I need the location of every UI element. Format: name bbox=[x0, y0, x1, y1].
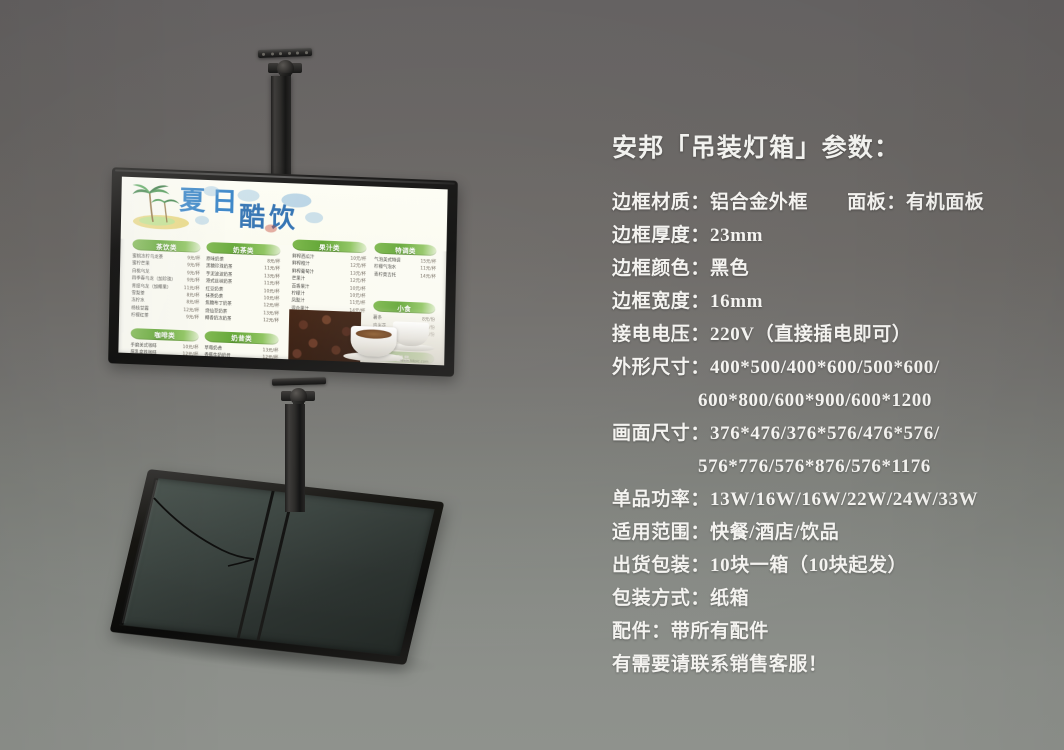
spec-line-list: 边框材质：铝合金外框 面板：有机面板 边框厚度：23mm 边框颜色：黑色 边框宽… bbox=[612, 186, 1042, 681]
menu-category-label: 茶饮类 bbox=[132, 239, 200, 253]
menu-category-label: 咖啡类 bbox=[131, 328, 199, 342]
menu-category-header: 特调类 bbox=[374, 243, 436, 256]
spec-line: 接电电压：220V（直接插电即可） bbox=[612, 318, 1042, 351]
rear-back-panel bbox=[119, 478, 434, 656]
menu-item-list: 蜜桃冻柠乌龙茶9元/杯 蜜柠芒果9元/杯 白桃乌龙9元/杯 四季春乌龙（加珍珠）… bbox=[131, 253, 200, 322]
rear-aluminum-frame bbox=[110, 469, 445, 665]
frame-hinge-edge bbox=[122, 480, 161, 624]
spec-line: 有需要请联系销售客服！ bbox=[612, 648, 1042, 681]
menu-column-2: 奶茶类 原味奶茶8元/杯 黑糖珍珠奶茶11元/杯 芋泥波波奶茶13元/杯 港式丝… bbox=[204, 242, 281, 365]
menu-item-list: 气泡美式特调15元/杯 柠檬气泡水11元/杯 青柠莫吉托14元/杯 bbox=[374, 257, 436, 282]
water-splash-5 bbox=[305, 212, 323, 224]
menu-category-header: 茶饮类 bbox=[132, 239, 200, 253]
menu-category-label: 奶昔类 bbox=[205, 331, 279, 345]
spec-line: 边框材质：铝合金外框 面板：有机面板 bbox=[612, 186, 1042, 219]
spec-title: 安邦「吊装灯箱」参数： bbox=[612, 128, 1042, 164]
menu-item-row: 厚乳拿铁咖啡12元/杯 bbox=[130, 349, 198, 359]
drop-pole-bottom bbox=[285, 404, 305, 512]
fruit-accent bbox=[265, 224, 277, 232]
spec-line: 配件：带所有配件 bbox=[612, 615, 1042, 648]
menu-title-char-3: 酷 bbox=[239, 205, 266, 231]
spec-line: 边框宽度：16mm bbox=[612, 285, 1042, 318]
hanging-light-box: 夏 日 酷 饮 bbox=[108, 167, 458, 377]
menu-item-row: 摩卡拿铁咖啡14元/杯 bbox=[130, 364, 198, 365]
menu-item-row: 柠檬红茶9元/杯 bbox=[131, 312, 199, 322]
menu-category-header: 奶昔类 bbox=[205, 331, 279, 345]
spec-line: 出货包装：10块一箱（10块起发） bbox=[612, 549, 1042, 582]
menu-title: 夏 日 酷 饮 bbox=[177, 185, 368, 242]
menu-item-list: 草莓奶昔13元/杯 香蕉牛奶奶昔12元/杯 蓝莓奶昔14元/杯 巧克力奶昔14元… bbox=[204, 345, 279, 366]
aluminum-frame: 夏 日 酷 饮 bbox=[108, 167, 458, 377]
spec-line: 单品功率：13W/16W/16W/22W/24W/33W bbox=[612, 483, 1042, 516]
menu-item-list: 手磨美式咖啡10元/杯 厚乳拿铁咖啡12元/杯 焦糖玛奇朵13元/杯 摩卡拿铁咖… bbox=[130, 342, 199, 366]
light-box-rear-view bbox=[110, 469, 445, 665]
spec-line: 画面尺寸：376*476/376*576/476*576/ bbox=[612, 417, 1042, 450]
menu-category-header: 咖啡类 bbox=[131, 328, 199, 342]
menu-category-header: 果汁类 bbox=[292, 239, 366, 253]
menu-category-header: 奶茶类 bbox=[206, 242, 280, 256]
menu-title-char-1: 夏 bbox=[179, 189, 206, 215]
water-splash-4 bbox=[195, 216, 209, 226]
menu-item-row: 蓝莓奶昔14元/杯 bbox=[204, 359, 278, 365]
spec-line: 边框颜色：黑色 bbox=[612, 252, 1042, 285]
water-splash-1 bbox=[204, 186, 220, 197]
spec-line: 外形尺寸：400*500/400*600/500*600/ bbox=[612, 351, 1042, 384]
menu-column-1: 茶饮类 蜜桃冻柠乌龙茶9元/杯 蜜柠芒果9元/杯 白桃乌龙9元/杯 四季春乌龙（… bbox=[130, 239, 201, 365]
product-photo-canvas: 夏 日 酷 饮 bbox=[0, 0, 1064, 750]
spec-line: 600*800/600*900/600*1200 bbox=[612, 384, 1042, 417]
menu-category-label: 特调类 bbox=[374, 243, 436, 256]
menu-item-list: 原味奶茶8元/杯 黑糖珍珠奶茶11元/杯 芋泥波波奶茶13元/杯 港式丝袜奶茶1… bbox=[205, 256, 280, 326]
spec-line: 边框厚度：23mm bbox=[612, 219, 1042, 252]
coffee-cup-large bbox=[350, 326, 397, 358]
menu-item-row: 青柠莫吉托14元/杯 bbox=[374, 271, 436, 281]
menu-item-row: 香蕉牛奶奶昔12元/杯 bbox=[204, 352, 278, 362]
water-splash-2 bbox=[237, 189, 259, 202]
menu-category-label: 果汁类 bbox=[292, 239, 366, 253]
spec-line: 适用范围：快餐/酒店/饮品 bbox=[612, 516, 1042, 549]
drop-pole-top bbox=[271, 76, 291, 180]
specification-panel: 安邦「吊装灯箱」参数： 边框材质：铝合金外框 面板：有机面板 边框厚度：23mm… bbox=[612, 128, 1042, 681]
back-panel-seam bbox=[237, 491, 275, 638]
coffee-beans-and-cups-photo: www.58pic.com bbox=[288, 303, 445, 365]
menu-item-row: 椰香奶冻奶茶12元/杯 bbox=[205, 315, 279, 325]
spec-line: 包装方式：纸箱 bbox=[612, 582, 1042, 615]
spec-line: 576*776/576*876/576*1176 bbox=[612, 450, 1042, 483]
menu-display-panel: 夏 日 酷 饮 bbox=[118, 177, 447, 366]
coffee-cup-small bbox=[393, 321, 429, 346]
back-panel-seam bbox=[257, 493, 295, 640]
menu-item-row: 焦糖玛奇朵13元/杯 bbox=[130, 357, 198, 366]
menu-category-label: 奶茶类 bbox=[206, 242, 280, 256]
